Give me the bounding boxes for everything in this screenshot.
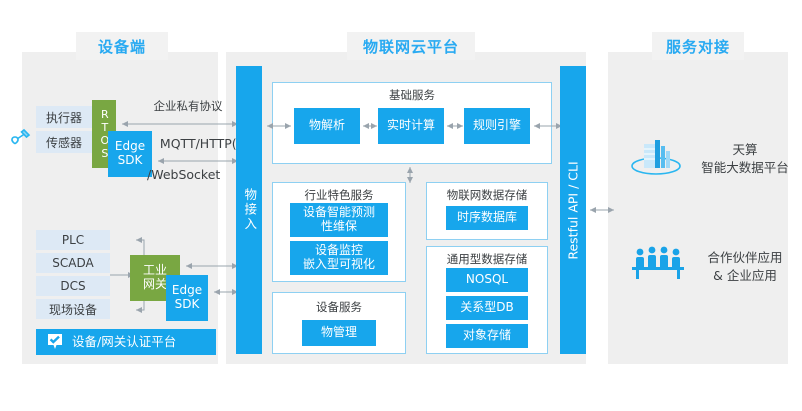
protocol-private-label: 企业私有协议 bbox=[128, 99, 248, 113]
edge-sdk-device-line1: Edge bbox=[115, 140, 145, 154]
service-entry-bigdata-line1: 天算 bbox=[690, 142, 800, 158]
edge-sdk-gateway-line1: Edge bbox=[172, 284, 202, 298]
sensor-box: 传感器 bbox=[36, 131, 92, 153]
field-device-plc: PLC bbox=[36, 230, 110, 250]
industry-service-item-predictive: 设备智能预测 性维保 bbox=[290, 203, 388, 237]
basic-service-title: 基础服务 bbox=[272, 87, 552, 103]
panel-title-device: 设备端 bbox=[76, 32, 168, 60]
general-storage-item-nosql: NOSQL bbox=[446, 268, 528, 292]
service-entry-partners-line2: & 企业应用 bbox=[690, 268, 800, 284]
api-cli-bar: Restful API / CLI bbox=[560, 66, 586, 354]
iot-storage-title: 物联网数据存储 bbox=[426, 187, 548, 203]
partners-people-icon bbox=[630, 245, 686, 281]
device-service-title: 设备服务 bbox=[272, 299, 406, 315]
panel-title-cloud: 物联网云平台 bbox=[347, 32, 475, 60]
arrow-ingress-to-basic bbox=[262, 120, 296, 132]
edge-sdk-gateway-block: Edge SDK bbox=[166, 275, 208, 321]
industry-service-title: 行业特色服务 bbox=[272, 187, 406, 203]
edge-sdk-gateway-line2: SDK bbox=[175, 298, 200, 312]
sensor-plug-icon bbox=[8, 126, 34, 152]
service-entry-bigdata-line2: 智能大数据平台 bbox=[690, 160, 800, 176]
industry-item1-line1: 设备监控 bbox=[315, 244, 363, 258]
arrow-gateway-to-ingress bbox=[180, 260, 244, 272]
basic-service-item-realtime: 实时计算 bbox=[378, 108, 444, 144]
industry-service-item-monitor: 设备监控 嵌入型可视化 bbox=[290, 241, 388, 275]
general-storage-item-rdb: 关系型DB bbox=[446, 296, 528, 320]
industry-item0-line2: 性维保 bbox=[321, 220, 357, 234]
edge-sdk-device-block: Edge SDK bbox=[108, 131, 152, 177]
arrow-api-to-service bbox=[586, 204, 618, 216]
edge-sdk-device-line2: SDK bbox=[118, 154, 143, 168]
field-device-scada: SCADA bbox=[36, 253, 110, 273]
basic-service-item-rules: 规则引擎 bbox=[464, 108, 530, 144]
general-storage-item-object: 对象存储 bbox=[446, 324, 528, 348]
arrow-parse-to-realtime bbox=[360, 120, 380, 132]
arrow-private-protocol bbox=[116, 118, 244, 130]
arrow-mqtt-protocol bbox=[152, 155, 244, 167]
service-entry-partners-line1: 合作伙伴应用 bbox=[690, 250, 800, 266]
ingress-label: 物接入 bbox=[242, 188, 256, 232]
auth-platform-bar[interactable]: 设备/网关认证平台 bbox=[36, 329, 216, 355]
field-device-dcs: DCS bbox=[36, 276, 110, 296]
ingress-bar: 物接入 bbox=[236, 66, 262, 354]
general-storage-title: 通用型数据存储 bbox=[426, 251, 548, 267]
panel-service-side bbox=[608, 52, 788, 364]
arrow-realtime-to-rules bbox=[444, 120, 466, 132]
industrial-gateway-line2: 网关 bbox=[143, 278, 167, 292]
basic-service-item-parse: 物解析 bbox=[294, 108, 360, 144]
bigdata-building-icon bbox=[630, 138, 682, 178]
device-service-item-thing-mgmt: 物管理 bbox=[302, 320, 376, 346]
iot-storage-item-tsdb: 时序数据库 bbox=[446, 206, 528, 230]
panel-title-service: 服务对接 bbox=[652, 32, 744, 60]
field-device-onsite: 现场设备 bbox=[36, 299, 110, 319]
api-cli-label: Restful API / CLI bbox=[566, 161, 581, 259]
industry-item0-line1: 设备智能预测 bbox=[303, 206, 375, 220]
auth-platform-label: 设备/网关认证平台 bbox=[72, 335, 176, 349]
industry-item1-line2: 嵌入型可视化 bbox=[303, 258, 375, 272]
actuator-box: 执行器 bbox=[36, 106, 92, 128]
industrial-gateway-line1: 工业 bbox=[143, 264, 167, 278]
check-badge-icon bbox=[46, 333, 64, 351]
